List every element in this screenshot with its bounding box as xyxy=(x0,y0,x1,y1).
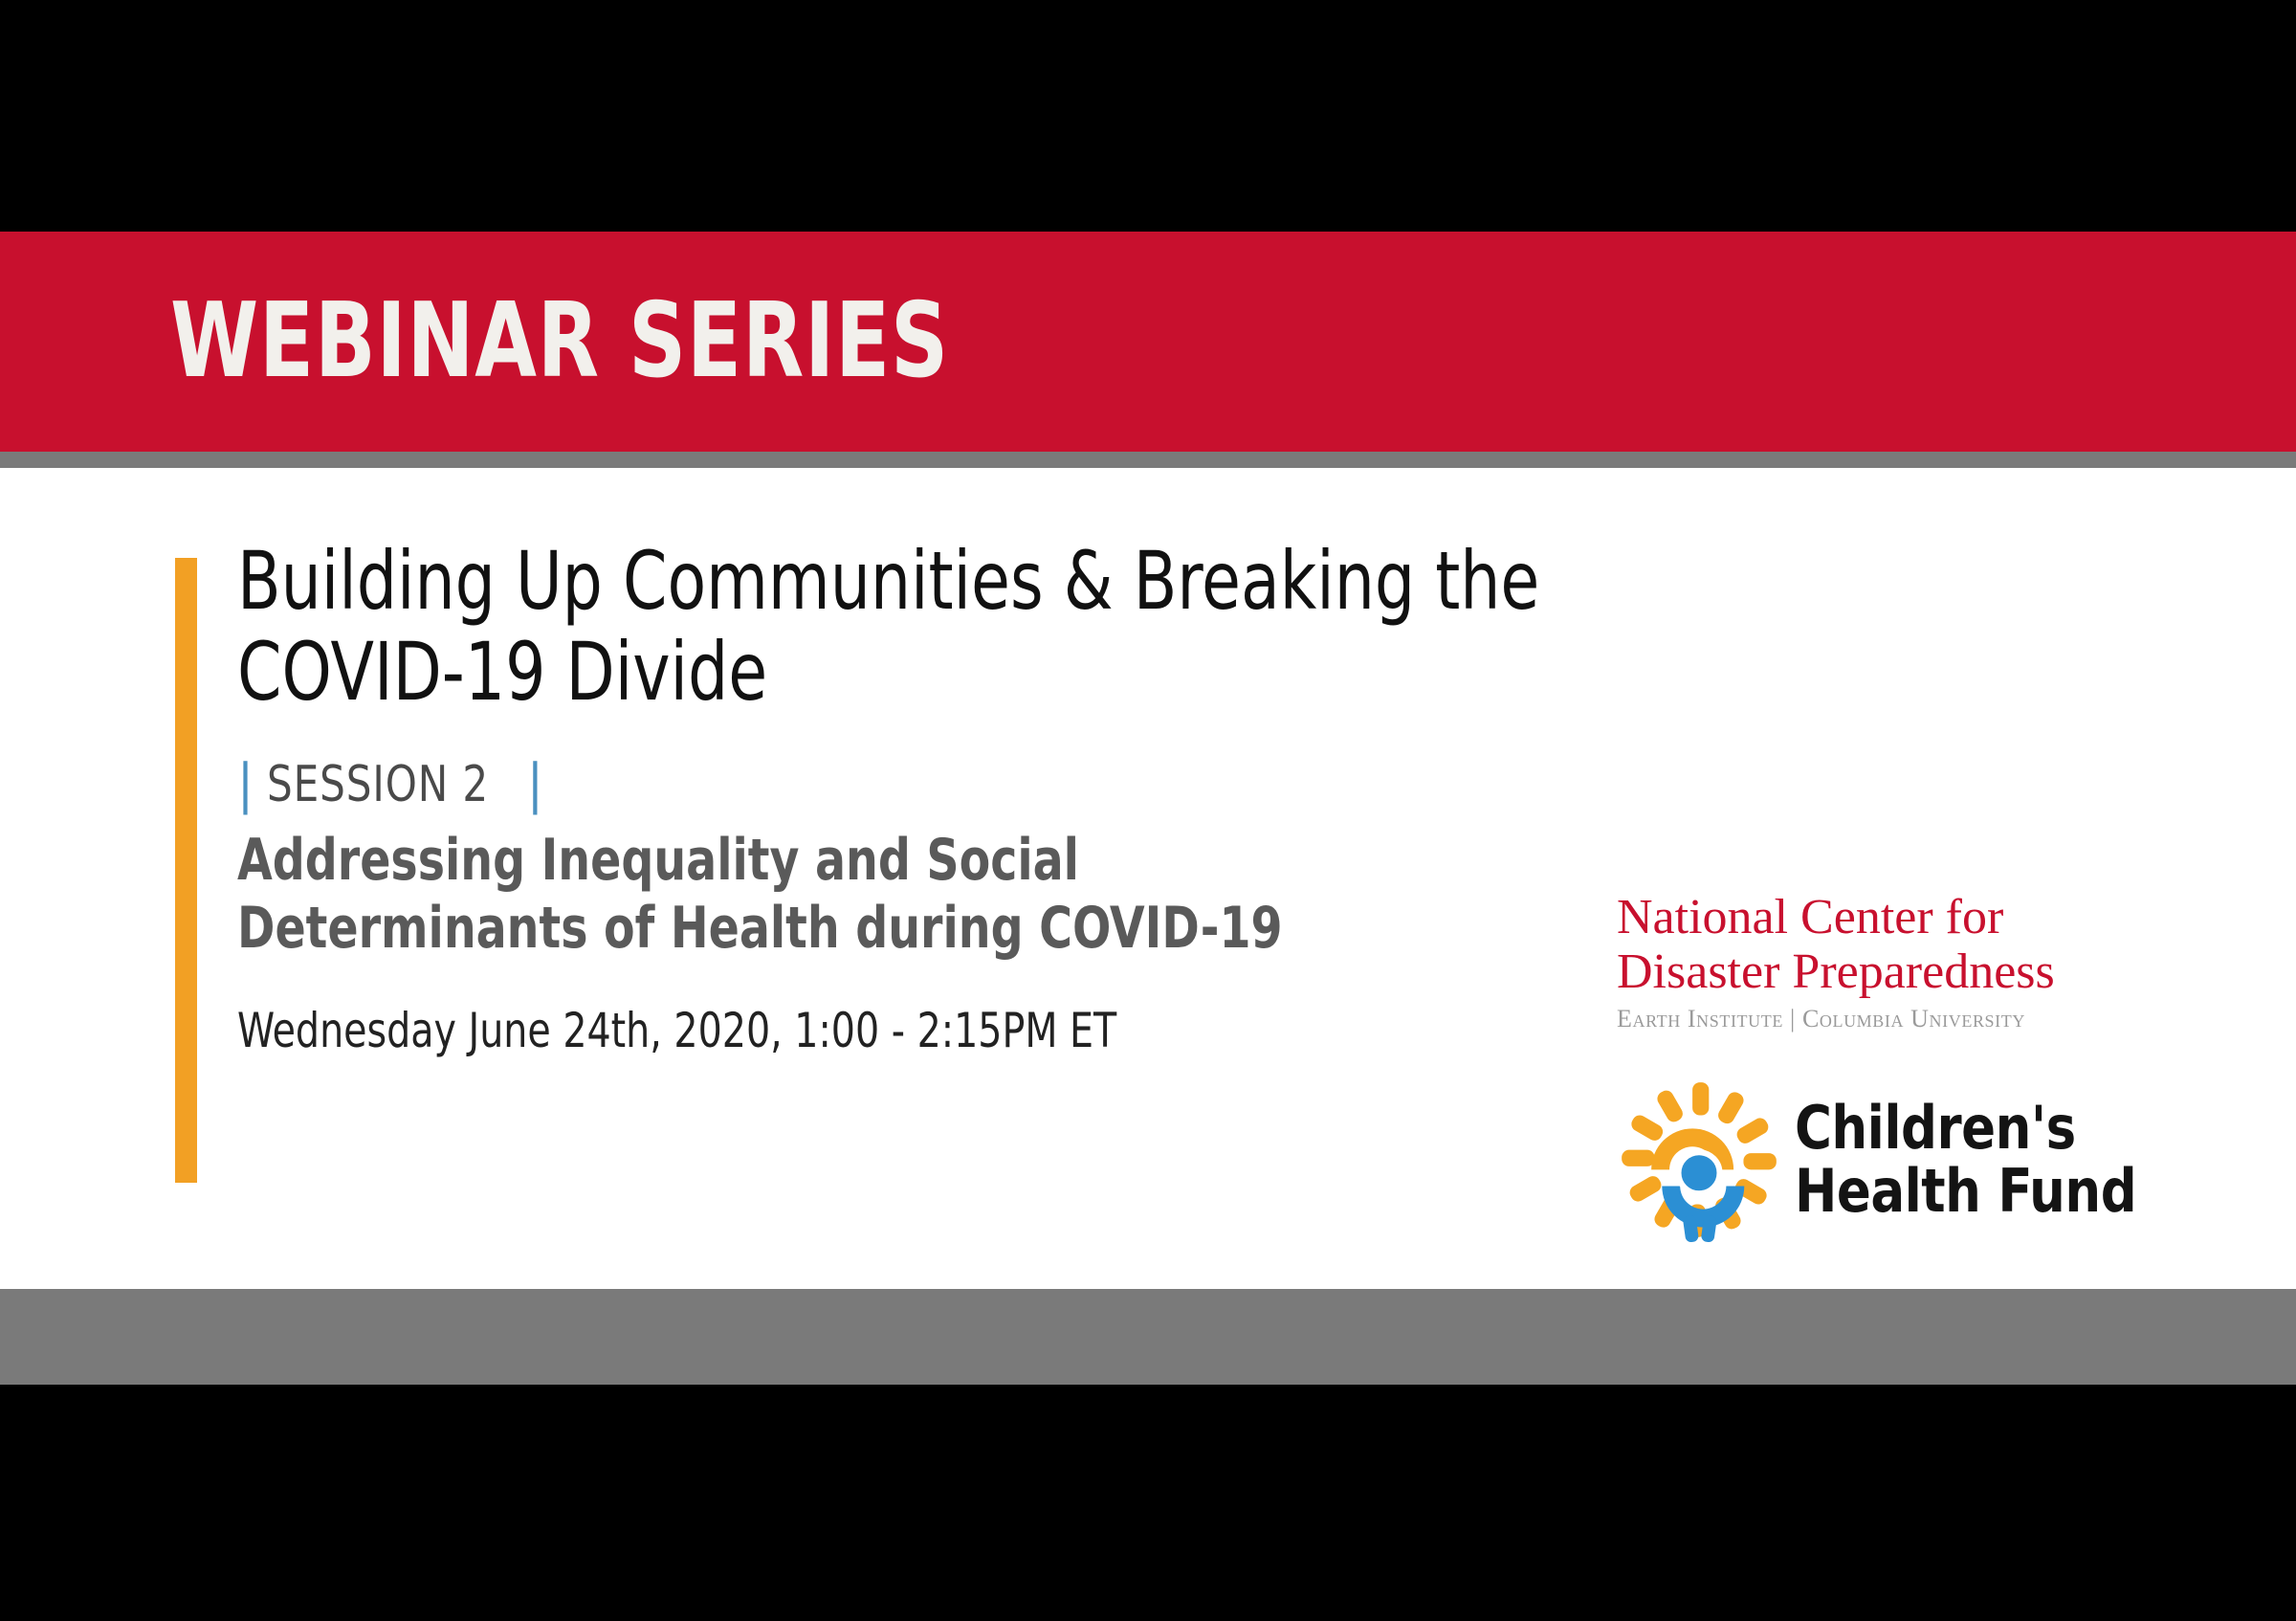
chf-wordmark-line-1: Children's xyxy=(1795,1097,2136,1160)
banner-title: WEBINAR SERIES xyxy=(170,290,949,393)
session-label-row: | SESSION 2 | xyxy=(237,756,1548,813)
slide-frame: WEBINAR SERIES Building Up Communities &… xyxy=(0,0,2296,1621)
ncdp-name: National Center for Disaster Preparednes… xyxy=(1617,890,2172,999)
page-title: Building Up Communities & Breaking the C… xyxy=(237,536,1391,718)
footer-band xyxy=(0,1289,2296,1385)
chf-wordmark: Children's Health Fund xyxy=(1795,1097,2136,1224)
page-title-line-1: Building Up Communities & Breaking the xyxy=(237,536,1391,627)
accent-bar xyxy=(175,558,197,1183)
banner-divider xyxy=(0,452,2296,468)
session-title-line-1: Addressing Inequality and Social xyxy=(237,827,1391,895)
logo-column: National Center for Disaster Preparednes… xyxy=(1617,890,2172,1242)
sun-child-icon xyxy=(1617,1077,1781,1242)
page-title-line-2: COVID-19 Divide xyxy=(237,627,1391,718)
session-title: Addressing Inequality and Social Determi… xyxy=(237,827,1391,963)
pipe-left-icon: | xyxy=(237,758,254,811)
webinar-series-banner: WEBINAR SERIES xyxy=(0,232,2296,452)
childrens-health-fund-logo: Children's Health Fund xyxy=(1617,1077,2172,1242)
ncdp-name-line-2: Disaster Preparedness xyxy=(1617,944,2172,999)
ncdp-affiliation: Earth Institute | Columbia University xyxy=(1617,1005,2172,1033)
pipe-right-icon: | xyxy=(527,758,543,811)
text-column: Building Up Communities & Breaking the C… xyxy=(237,536,1548,1059)
ncdp-logo: National Center for Disaster Preparednes… xyxy=(1617,890,2172,1033)
chf-wordmark-line-2: Health Fund xyxy=(1795,1160,2136,1223)
ncdp-name-line-1: National Center for xyxy=(1617,890,2172,944)
event-date: Wednesday June 24th, 2020, 1:00 - 2:15PM… xyxy=(237,1002,1391,1059)
session-label: SESSION 2 xyxy=(267,756,489,813)
session-title-line-2: Determinants of Health during COVID-19 xyxy=(237,895,1391,963)
